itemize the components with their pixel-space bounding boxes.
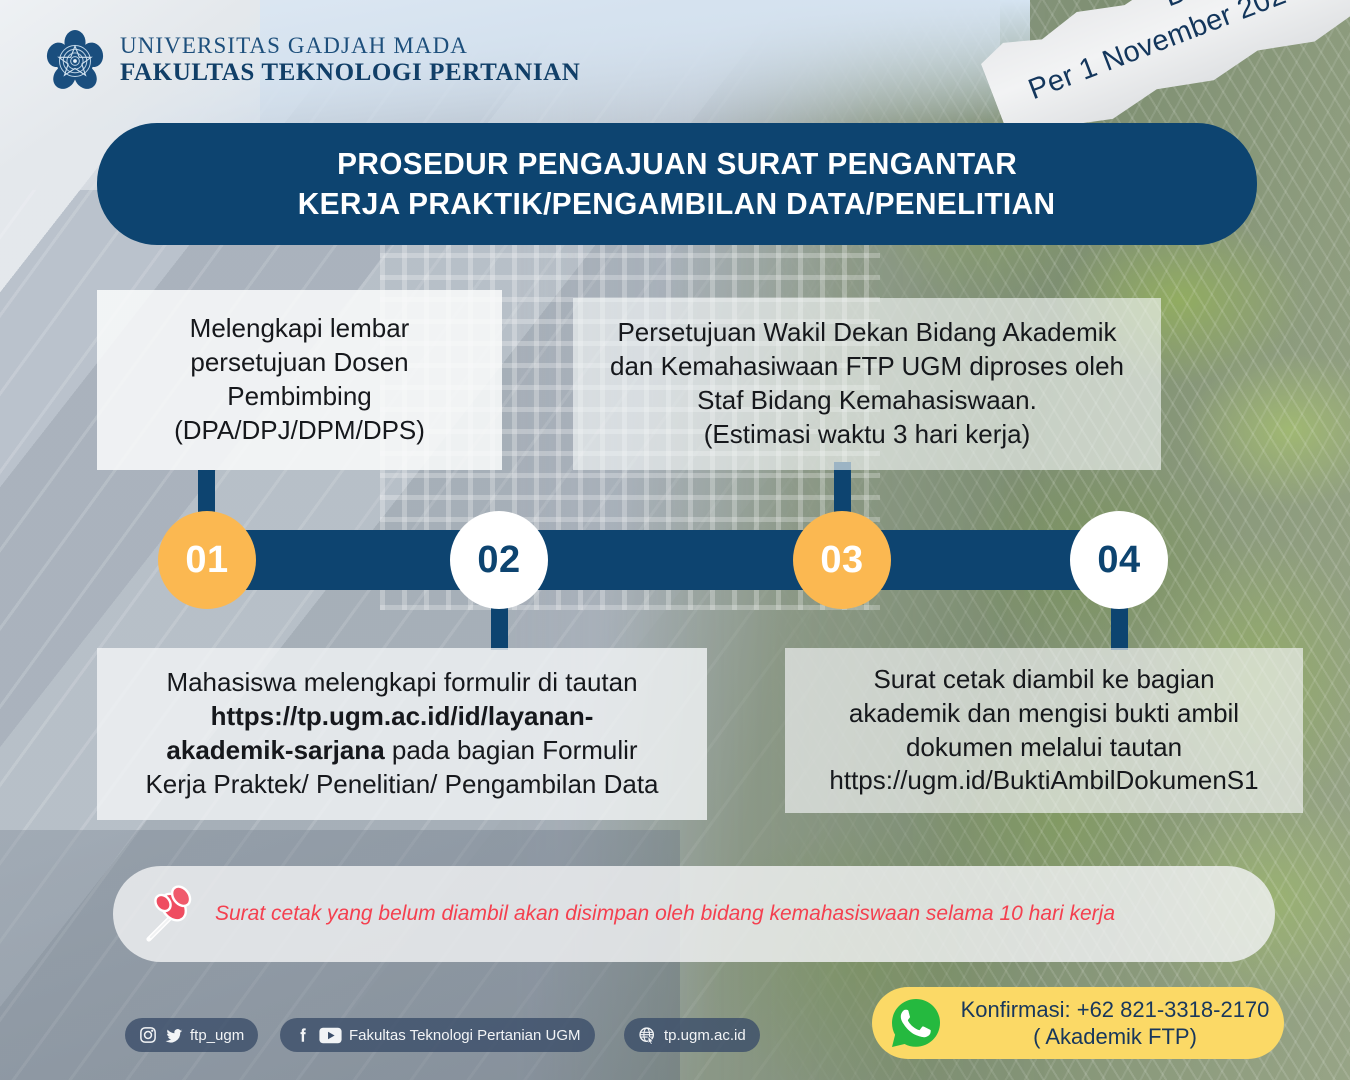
- whatsapp-line-2: ( Akademik FTP): [956, 1023, 1274, 1051]
- step-box-03: Persetujuan Wakil Dekan Bidang Akademik …: [573, 298, 1161, 470]
- step-01-line-1: Melengkapi lembar: [113, 312, 486, 346]
- brand-text: UNIVERSITAS GADJAH MADA FAKULTAS TEKNOLO…: [120, 33, 580, 86]
- step-02-line-3-tail: pada bagian Formulir: [385, 735, 638, 765]
- title-banner: PROSEDUR PENGAJUAN SURAT PENGANTAR KERJA…: [97, 123, 1257, 245]
- step-02-link-part-2[interactable]: akademik-sarjana: [166, 735, 384, 765]
- step-04-line-1: Surat cetak diambil ke bagian: [801, 663, 1287, 697]
- step-node-02[interactable]: 02: [450, 511, 548, 609]
- brand-line-university: UNIVERSITAS GADJAH MADA: [120, 33, 580, 59]
- website-pill[interactable]: tp.ugm.ac.id: [624, 1018, 760, 1052]
- whatsapp-text: Konfirmasi: +62 821-3318-2170 ( Akademik…: [956, 996, 1274, 1051]
- step-box-04: Surat cetak diambil ke bagian akademik d…: [785, 648, 1303, 813]
- step-02-link-part-1[interactable]: https://tp.ugm.ac.id/id/layanan-: [113, 700, 691, 734]
- step-04-line-3: dokumen melalui tautan: [801, 731, 1287, 765]
- step-node-03[interactable]: 03: [793, 511, 891, 609]
- step-02-line-4: Kerja Praktek/ Penelitian/ Pengambilan D…: [113, 768, 691, 802]
- website-pill-label: tp.ugm.ac.id: [664, 1027, 746, 1044]
- step-03-line-3: Staf Bidang Kemahasiswaan.: [589, 384, 1145, 418]
- note-text: Surat cetak yang belum diambil akan disi…: [215, 899, 1115, 929]
- timeline-rail: [235, 530, 1125, 590]
- infographic-poster: UNIVERSITAS GADJAH MADA FAKULTAS TEKNOLO…: [0, 0, 1350, 1080]
- facebook-icon[interactable]: [294, 1026, 312, 1044]
- step-box-02: Mahasiswa melengkapi formulir di tautan …: [97, 648, 707, 820]
- step-03-line-2: dan Kemahasiwaan FTP UGM diproses oleh: [589, 350, 1145, 384]
- youtube-icon[interactable]: [319, 1027, 342, 1044]
- note-banner: Surat cetak yang belum diambil akan disi…: [113, 866, 1275, 962]
- brand-line-faculty: FAKULTAS TEKNOLOGI PERTANIAN: [120, 59, 580, 87]
- step-03-line-1: Persetujuan Wakil Dekan Bidang Akademik: [589, 316, 1145, 350]
- twitter-icon[interactable]: [164, 1026, 183, 1045]
- facebook-pill-label: Fakultas Teknologi Pertanian UGM: [349, 1027, 581, 1044]
- step-02-line-1: Mahasiswa melengkapi formulir di tautan: [113, 666, 691, 700]
- ugm-emblem-icon: [44, 30, 106, 92]
- social-pill-label: ftp_ugm: [190, 1027, 244, 1044]
- whatsapp-line-1: Konfirmasi: +62 821-3318-2170: [956, 996, 1274, 1024]
- step-03-line-4: (Estimasi waktu 3 hari kerja): [589, 418, 1145, 452]
- step-01-line-4: (DPA/DPJ/DPM/DPS): [113, 414, 486, 448]
- step-01-line-2: persetujuan Dosen: [113, 346, 486, 380]
- step-04-line-2: akademik dan mengisi bukti ambil: [801, 697, 1287, 731]
- pushpin-icon: [143, 883, 205, 945]
- step-node-04[interactable]: 04: [1070, 511, 1168, 609]
- title-line-2: KERJA PRAKTIK/PENGAMBILAN DATA/PENELITIA…: [298, 186, 1056, 222]
- social-pill-facebook-youtube[interactable]: Fakultas Teknologi Pertanian UGM: [280, 1018, 595, 1052]
- social-pill-instagram-twitter[interactable]: ftp_ugm: [125, 1018, 258, 1052]
- whatsapp-icon[interactable]: [890, 997, 942, 1049]
- step-node-01[interactable]: 01: [158, 511, 256, 609]
- step-box-01: Melengkapi lembar persetujuan Dosen Pemb…: [97, 290, 502, 470]
- poster-header: UNIVERSITAS GADJAH MADA FAKULTAS TEKNOLO…: [0, 0, 700, 115]
- instagram-icon[interactable]: [139, 1026, 157, 1044]
- globe-cursor-icon[interactable]: [638, 1026, 657, 1045]
- whatsapp-contact-pill[interactable]: Konfirmasi: +62 821-3318-2170 ( Akademik…: [872, 987, 1284, 1059]
- title-line-1: PROSEDUR PENGAJUAN SURAT PENGANTAR: [337, 146, 1017, 182]
- step-01-line-3: Pembimbing: [113, 380, 486, 414]
- step-04-link[interactable]: https://ugm.id/BuktiAmbilDokumenS1: [801, 764, 1287, 798]
